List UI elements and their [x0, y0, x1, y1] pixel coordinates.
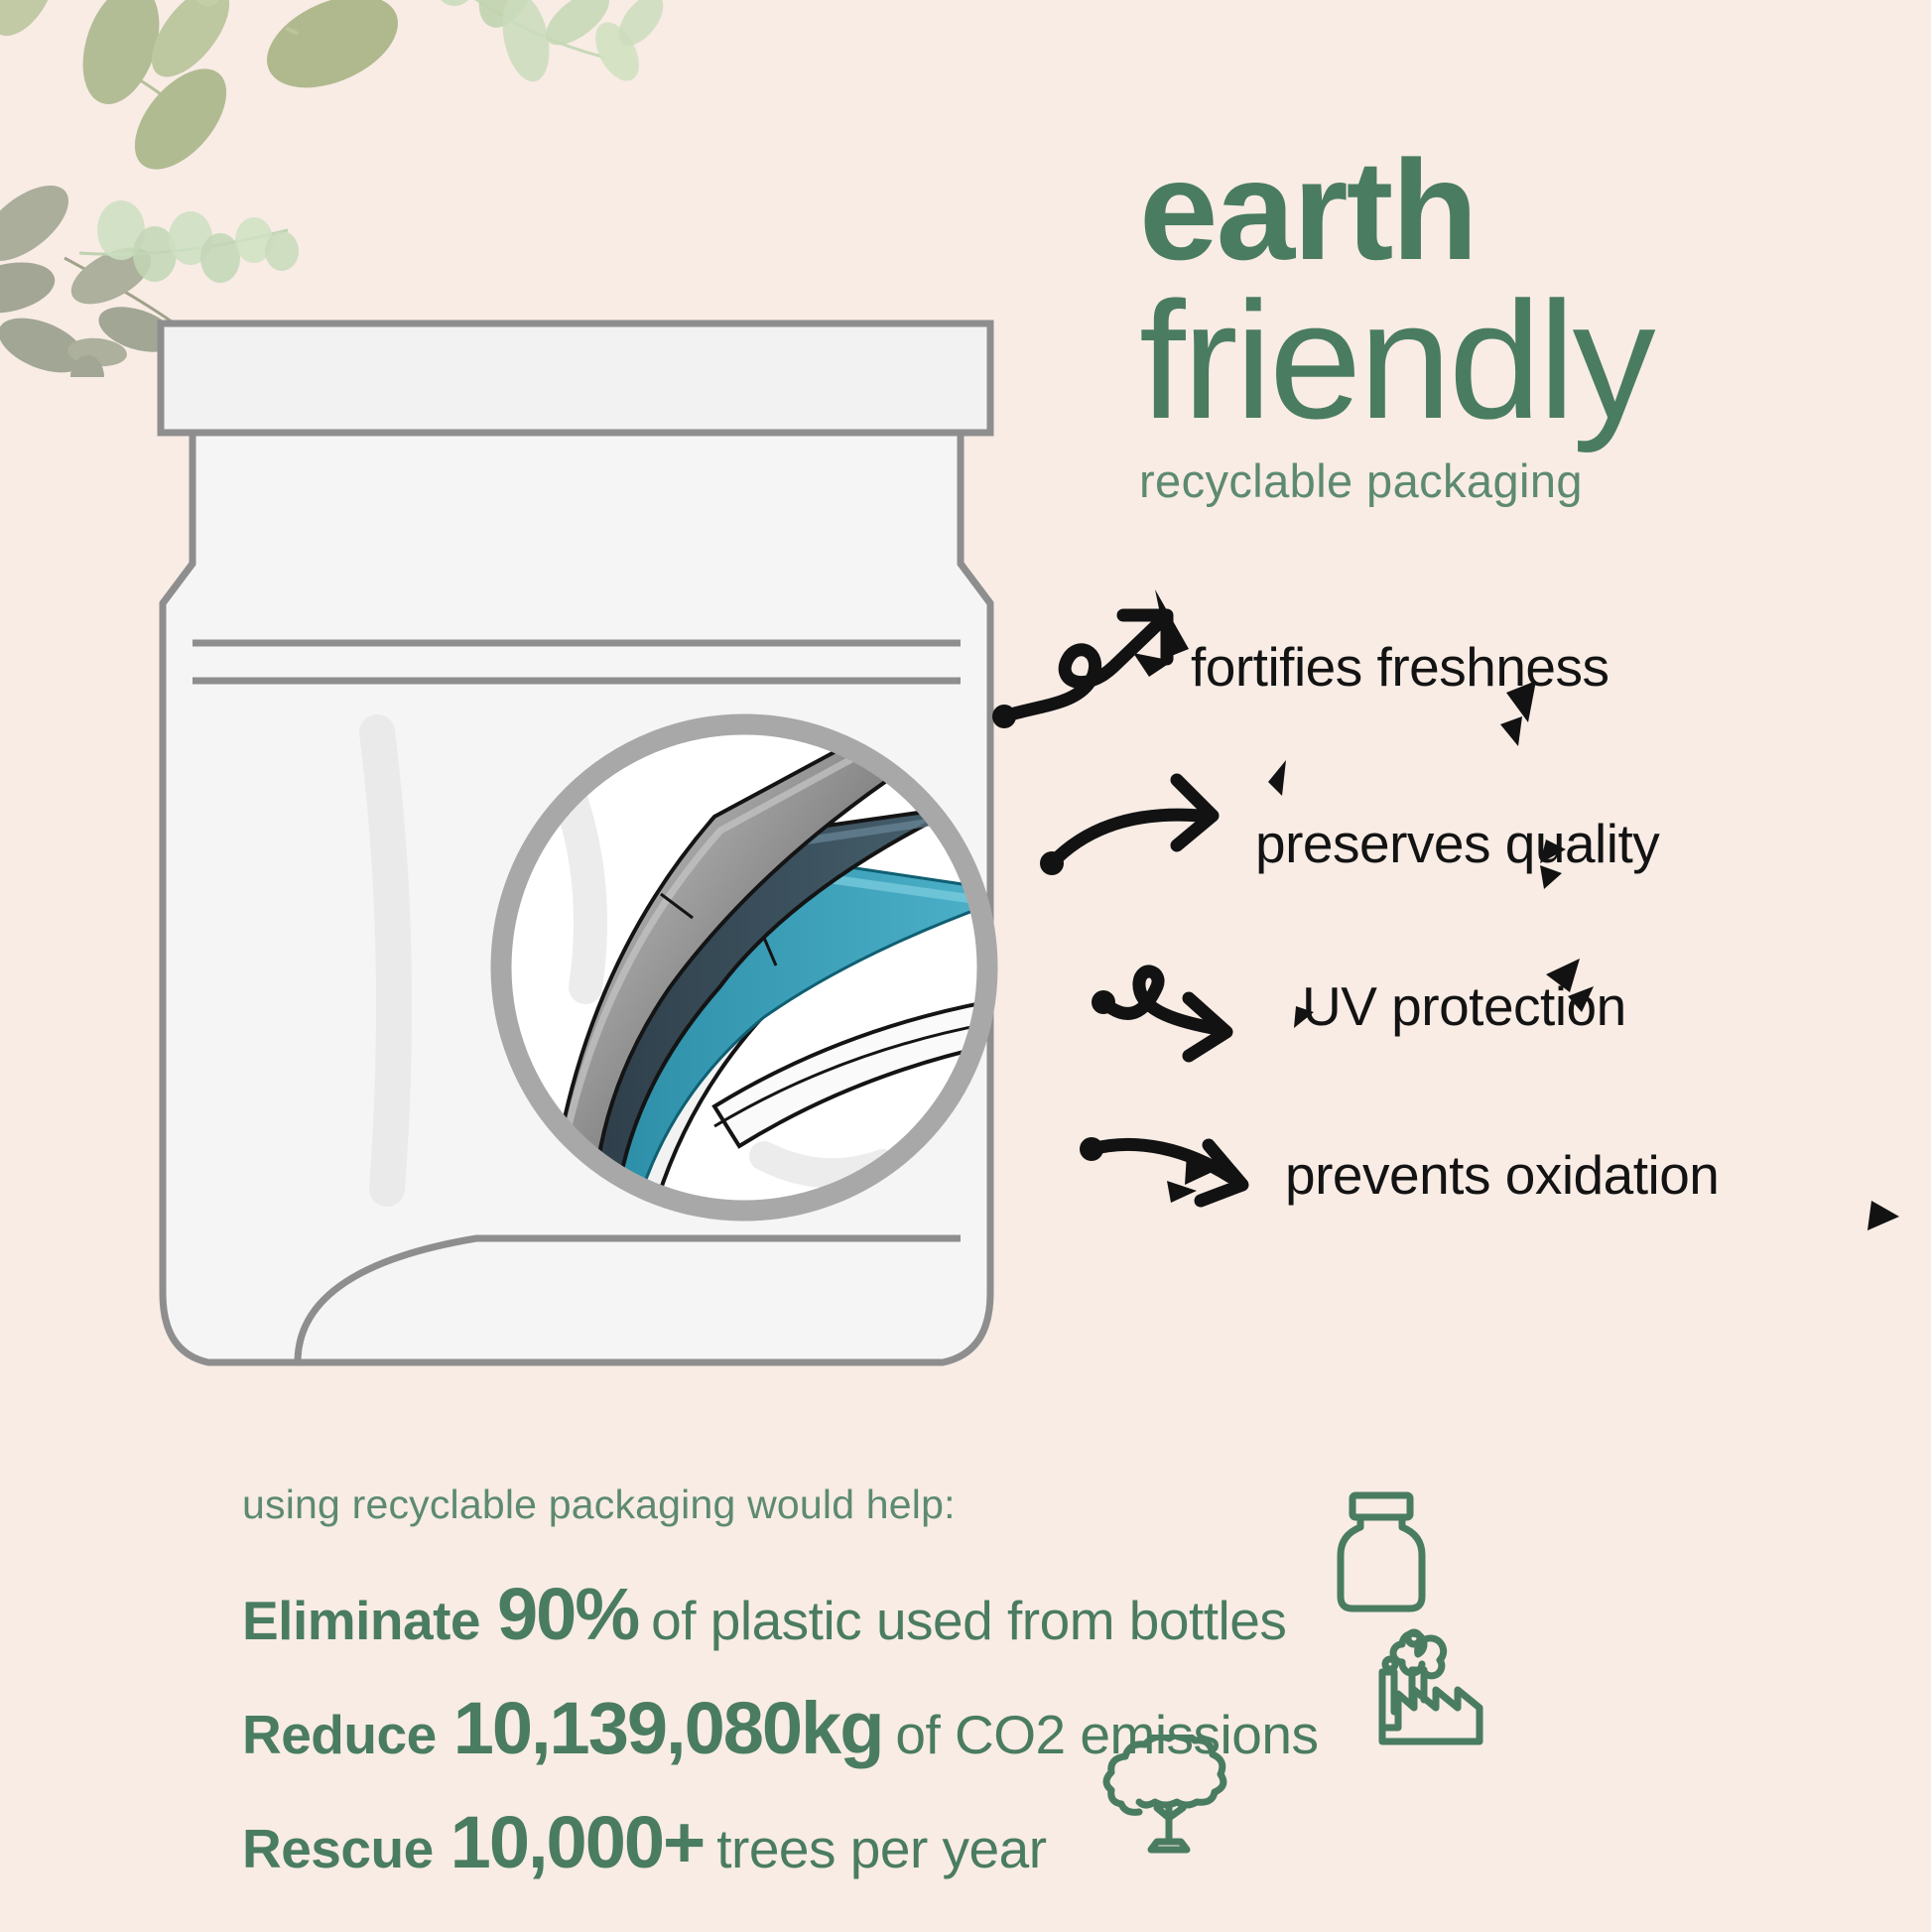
- factory-icon: [1368, 1624, 1493, 1749]
- feature-label-prevents-oxidation: prevents oxidation: [1285, 1143, 1719, 1207]
- stat-value: 10,000+: [451, 1800, 705, 1884]
- statistics-block: using recyclable packaging would help: E…: [242, 1481, 1433, 1884]
- stat-tail: of plastic used from bottles: [651, 1589, 1286, 1652]
- bottle-icon: [1327, 1489, 1446, 1618]
- stat-value: 90%: [497, 1572, 638, 1656]
- stat-tail: trees per year: [716, 1817, 1046, 1880]
- stat-verb: Eliminate: [242, 1589, 480, 1652]
- stat-row-rescue: Rescue 10,000+ trees per year: [242, 1800, 1433, 1884]
- tree-icon: [1099, 1735, 1238, 1862]
- magnified-layers-circle: [466, 690, 1022, 1245]
- heading-block: earth friendly recyclable packaging: [1139, 145, 1923, 508]
- page-title-line1: earth: [1139, 145, 1923, 278]
- stat-verb: Rescue: [242, 1817, 434, 1880]
- feature-label-preserves-quality: preserves quality: [1255, 812, 1659, 875]
- stat-verb: Reduce: [242, 1703, 437, 1766]
- stat-value: 10,139,080kg: [453, 1686, 883, 1770]
- statistics-intro: using recyclable packaging would help:: [242, 1481, 1433, 1528]
- feature-label-fortifies-freshness: fortifies freshness: [1191, 635, 1609, 699]
- infographic-canvas: earth friendly recyclable packaging fort…: [0, 0, 1931, 1932]
- stat-row-eliminate: Eliminate 90% of plastic used from bottl…: [242, 1572, 1433, 1656]
- stat-row-reduce: Reduce 10,139,080kg of CO2 emissions: [242, 1686, 1433, 1770]
- page-title-line2: friendly: [1139, 284, 1923, 438]
- feature-label-uv-protection: UV protection: [1302, 974, 1626, 1038]
- page-subtitle: recyclable packaging: [1139, 453, 1923, 508]
